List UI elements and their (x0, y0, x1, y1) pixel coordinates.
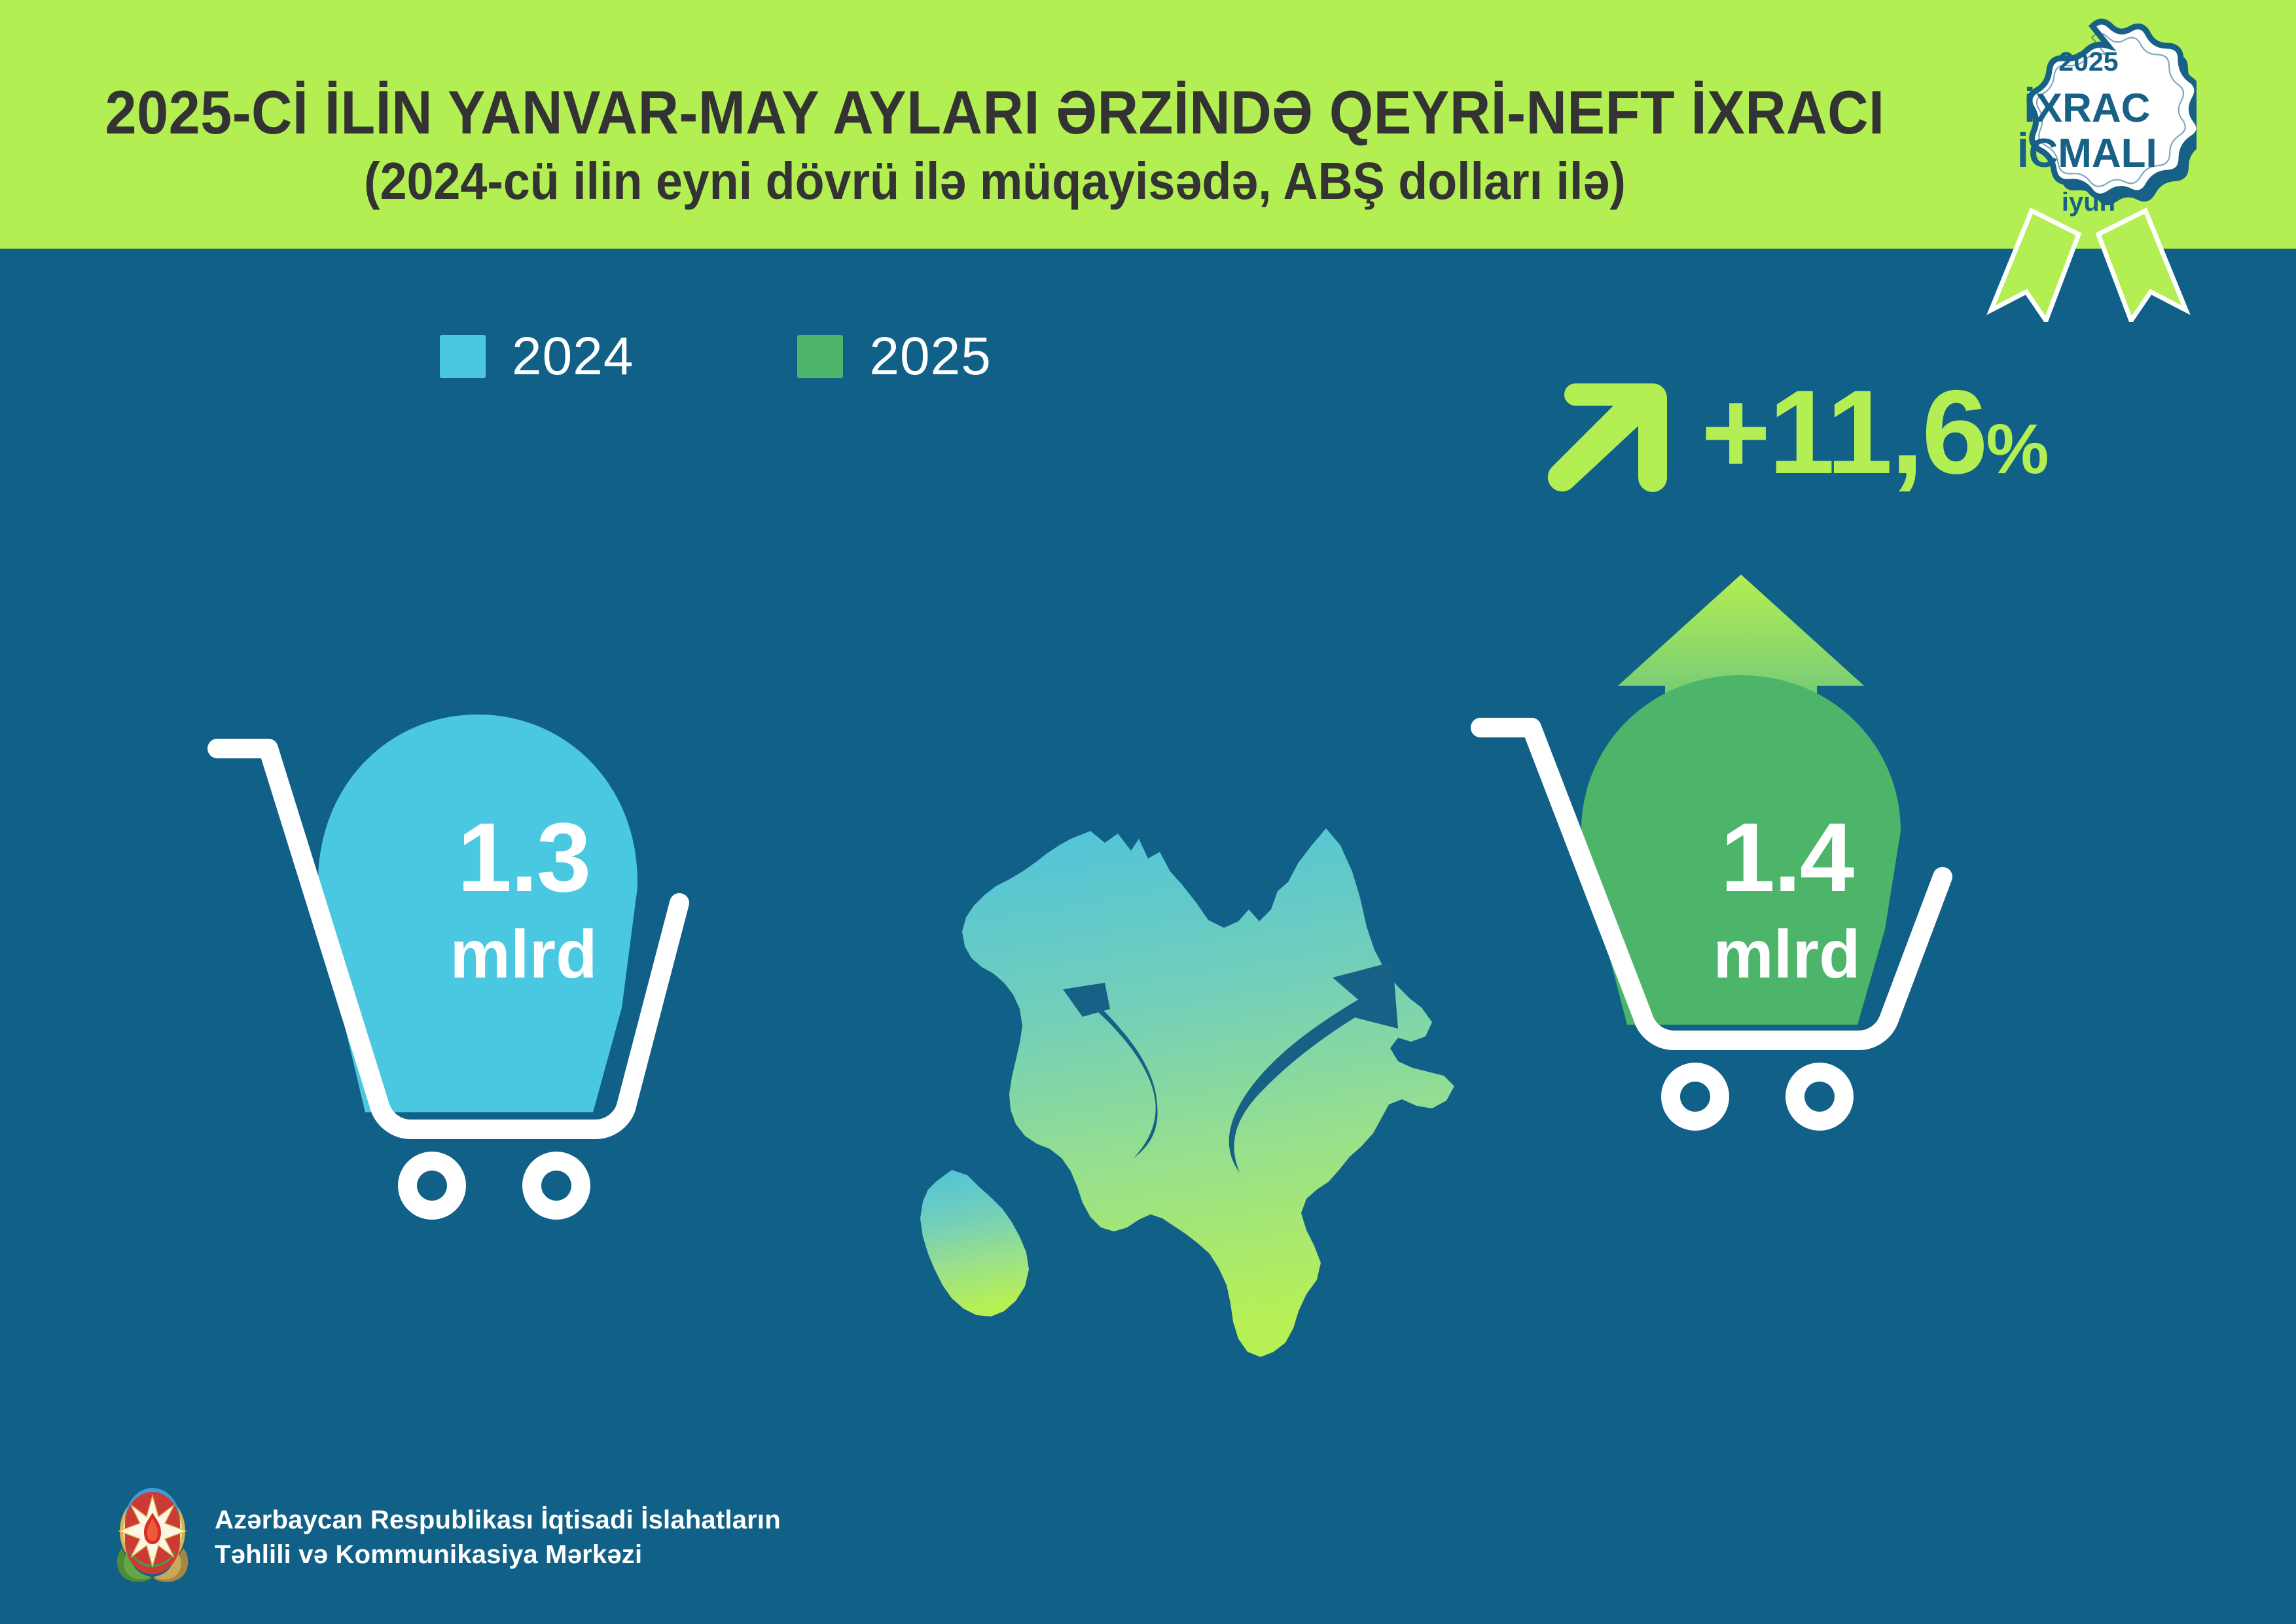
footer-org-name: Azərbaycan Respublikası İqtisadi İslahat… (215, 1503, 781, 1572)
page-subtitle: (2024-cü ilin eyni dövrü ilə müqayisədə,… (80, 154, 1910, 208)
growth-value: +11,6 (1701, 372, 1986, 491)
badge-line2: İCMALI (2017, 131, 2157, 176)
legend-swatch-2025 (797, 335, 843, 378)
cart-value-2025: 1.4 (1649, 808, 1924, 906)
infographic-canvas: 2025-Cİ İLİN YANVAR-MAY AYLARI ƏRZİNDƏ Q… (0, 0, 2296, 1624)
cart-value-box-2024: 1.3 mlrd (386, 808, 661, 989)
arrow-up-right-icon (1541, 366, 1679, 497)
footer-org-line1: Azərbaycan Respublikası İqtisadi İslahat… (215, 1503, 781, 1538)
badge-line1: İXRAC (2024, 86, 2151, 131)
cart-wheels-2025 (1661, 1063, 1854, 1131)
badge-ribbon-icon (1991, 211, 2186, 321)
cart-value-box-2025: 1.4 mlrd (1649, 808, 1924, 989)
growth-value-wrap: +11,6 % (1701, 372, 2048, 491)
cart-2025: 1.4 mlrd (1453, 550, 2108, 1139)
cart-2024: 1.3 mlrd (190, 654, 844, 1243)
map-landmass (920, 828, 1454, 1357)
export-review-badge: 2025 İXRAC İCMALI iyun (1981, 14, 2197, 322)
cart-unit-2025: mlrd (1649, 921, 1924, 989)
legend-swatch-2024 (440, 335, 486, 378)
header-band: 2025-Cİ İLİN YANVAR-MAY AYLARI ƏRZİNDƏ Q… (0, 0, 2296, 249)
growth-indicator: +11,6 % (1541, 366, 2048, 497)
footer: Azərbaycan Respublikası İqtisadi İslahat… (111, 1488, 781, 1587)
badge-year: 2025 (2058, 46, 2118, 77)
growth-percent-sign: % (1986, 414, 2047, 484)
legend-label-2025: 2025 (869, 326, 991, 387)
title-block: 2025-Cİ İLİN YANVAR-MAY AYLARI ƏRZİNDƏ Q… (0, 81, 1990, 207)
legend: 2024 2025 (440, 326, 992, 387)
legend-label-2024: 2024 (512, 326, 634, 387)
cart-value-2024: 1.3 (386, 808, 661, 906)
badge-month: iyun (2062, 188, 2115, 217)
legend-item-2025: 2025 (797, 326, 991, 387)
cart-wheels-2024 (398, 1152, 590, 1220)
footer-org-line2: Təhlili və Kommunikasiya Mərkəzi (215, 1538, 781, 1572)
cart-unit-2024: mlrd (386, 921, 661, 989)
page-title: 2025-Cİ İLİN YANVAR-MAY AYLARI ƏRZİNDƏ Q… (80, 81, 1910, 144)
azerbaijan-state-emblem-icon (111, 1488, 194, 1587)
legend-item-2024: 2024 (440, 326, 634, 387)
